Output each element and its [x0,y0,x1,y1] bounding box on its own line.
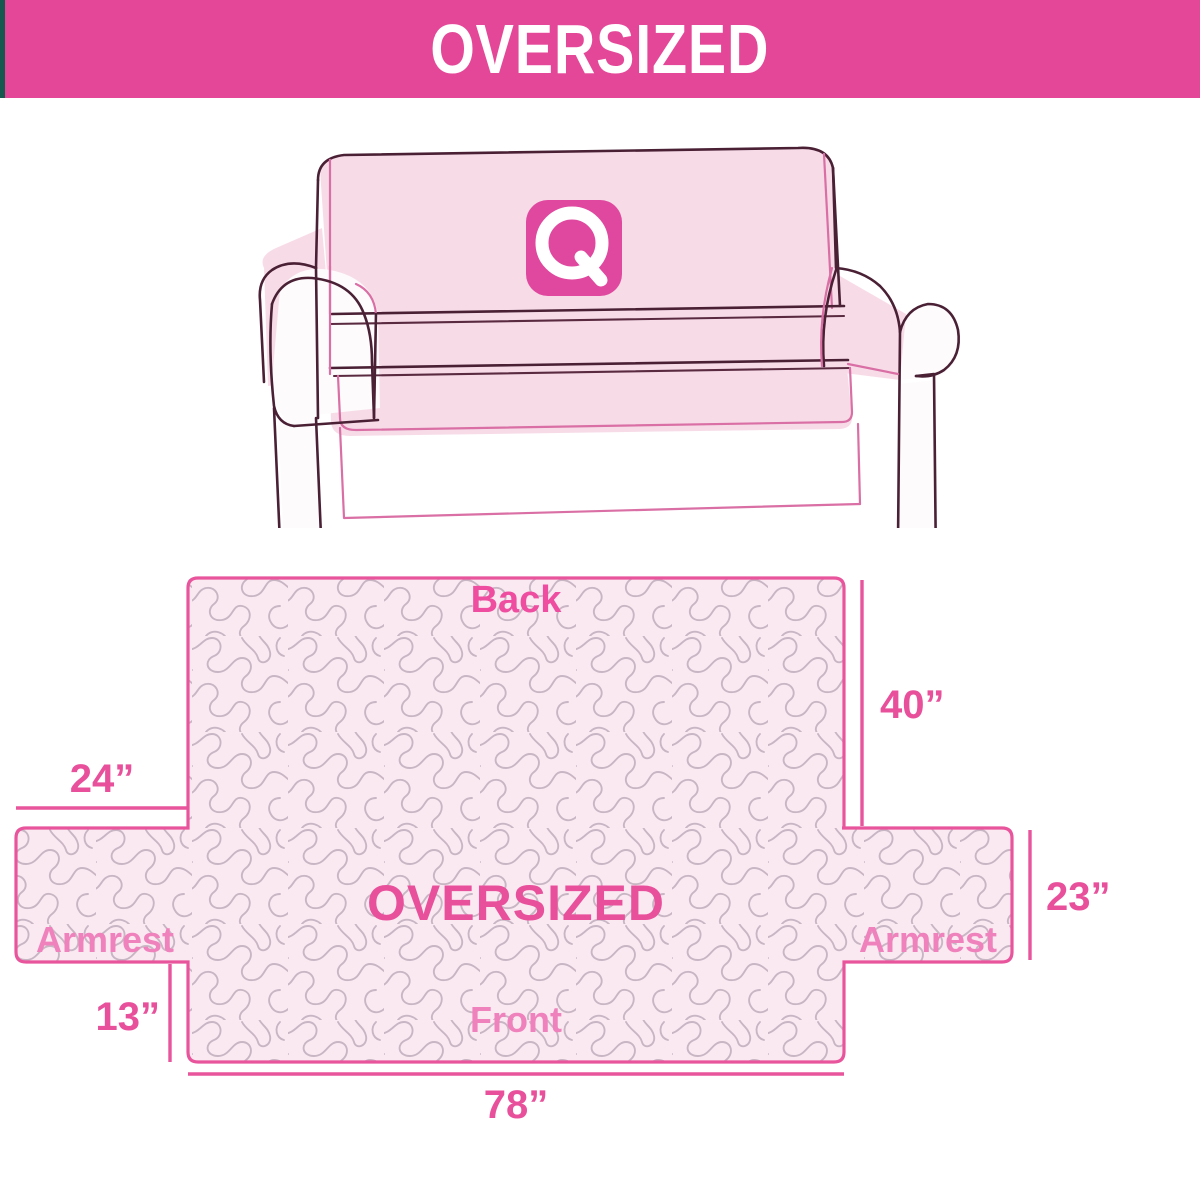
panel-label-center: OVERSIZED [367,875,665,931]
brand-logo [526,200,622,296]
panel-label-armrest-right: Armrest [859,919,997,960]
dimension-back-depth: 40” [862,580,945,826]
dimension-front-depth: 13” [96,964,171,1062]
slipcover-dimension-diagram: .fabric { fill:url(#quilt); stroke:#E855… [0,540,1200,1130]
svg-text:40”: 40” [880,683,945,727]
svg-text:23”: 23” [1046,875,1111,919]
svg-text:24”: 24” [70,757,135,801]
header-banner: OVERSIZED [0,0,1200,98]
panel-label-armrest-left: Armrest [36,919,174,960]
panel-label-back: Back [471,579,563,621]
banner-left-accent-bar [0,0,5,98]
svg-text:78”: 78” [484,1083,549,1127]
dimension-total-width: 78” [188,1074,844,1127]
sofa-illustration: .ol { fill:none; stroke:#4A2035; stroke-… [0,118,1200,528]
dimension-armrest-width: 24” [16,757,188,808]
svg-text:13”: 13” [96,995,161,1039]
dimension-armrest-depth: 23” [1030,830,1111,960]
page-title: OVERSIZED [430,14,769,84]
panel-label-front: Front [470,999,562,1040]
